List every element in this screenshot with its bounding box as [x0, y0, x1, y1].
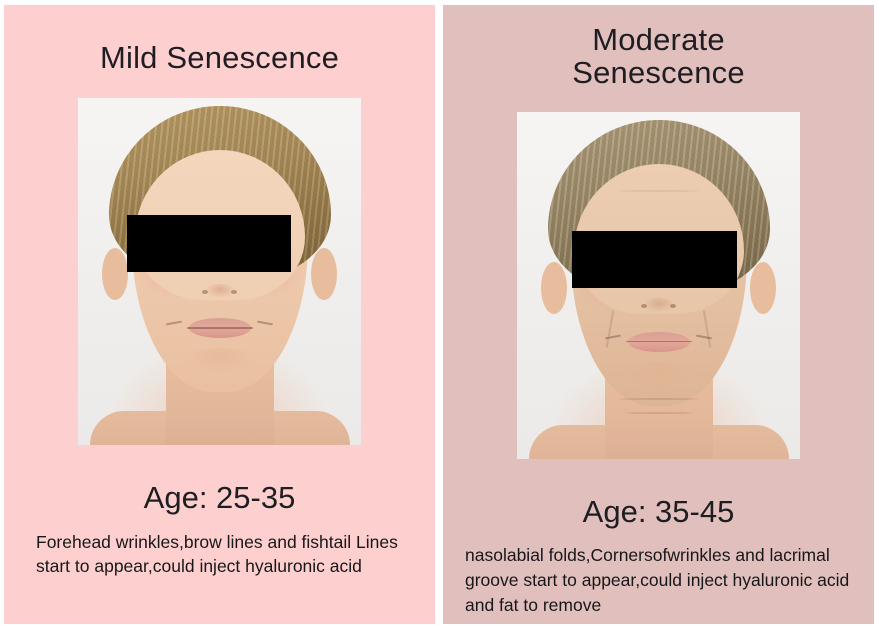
panel-mild-senescence: Mild Senescence Age: 25-35 [4, 5, 435, 624]
chin-shape [185, 348, 255, 374]
nostril-right-shape [670, 304, 676, 308]
mouth-line [626, 341, 692, 343]
portrait-mild [78, 98, 361, 445]
panel-title-mild: Mild Senescence [100, 5, 339, 74]
brow-wrinkle-line [619, 190, 699, 192]
description-moderate: nasolabial folds,Cornersofwrinkles and l… [443, 529, 874, 618]
panel-moderate-senescence: Moderate Senescence [443, 5, 874, 624]
eye-redaction-bar [127, 215, 291, 272]
ear-right-shape [750, 262, 776, 314]
nose-shape [205, 284, 235, 298]
description-mild: Forehead wrinkles,brow lines and fishtai… [4, 516, 435, 580]
neck-line-lower [625, 412, 693, 414]
comparison-board: Mild Senescence Age: 25-35 [0, 0, 878, 630]
portrait-moderate [517, 112, 800, 459]
nose-shape [644, 298, 674, 312]
eye-redaction-bar [572, 231, 737, 288]
panel-title-moderate: Moderate Senescence [529, 5, 789, 90]
age-label-moderate: Age: 35-45 [583, 475, 735, 529]
age-label-mild: Age: 25-35 [144, 461, 296, 515]
ear-right-shape [311, 248, 337, 300]
chin-shape [624, 362, 694, 388]
mouth-line [187, 327, 253, 329]
ear-left-shape [541, 262, 567, 314]
neck-line-upper [619, 398, 699, 400]
nostril-left-shape [641, 304, 647, 308]
ear-left-shape [102, 248, 128, 300]
